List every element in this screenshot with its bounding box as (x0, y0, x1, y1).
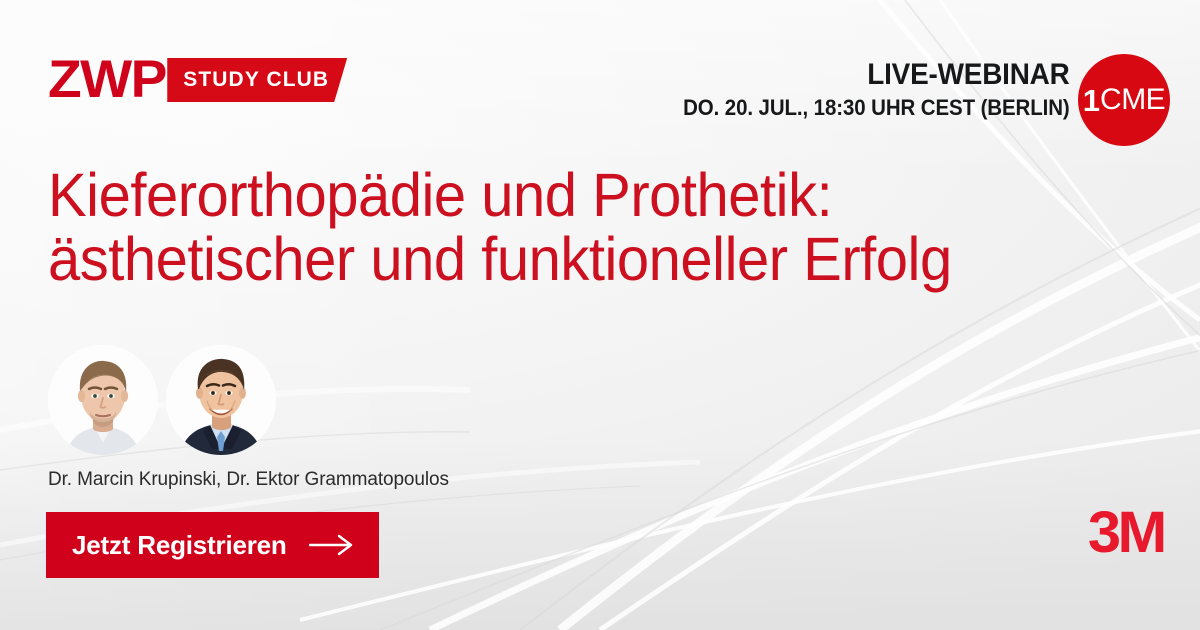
arrow-right-icon (309, 534, 355, 556)
webinar-type-label: LIVE-WEBINAR (683, 58, 1070, 92)
cme-credit-badge: 1 CME (1078, 54, 1170, 146)
study-club-tag: STUDY CLUB (167, 58, 347, 102)
speakers-section: Dr. Marcin Krupinski, Dr. Ektor Grammato… (48, 345, 449, 491)
avatar (48, 345, 158, 455)
register-button-label: Jetzt Registrieren (72, 530, 287, 561)
headline-line-1: Kieferorthopädie und Prothetik: (48, 163, 1084, 227)
webinar-datetime-label: DO. 20. JUL., 18:30 UHR CEST (BERLIN) (683, 94, 1070, 122)
cme-count: 1 (1083, 85, 1100, 116)
register-button[interactable]: Jetzt Registrieren (46, 512, 379, 578)
avatar (166, 345, 276, 455)
zwp-study-club-logo[interactable]: ZWP STUDY CLUB (48, 56, 347, 104)
speaker-portrait-1 (48, 345, 158, 455)
banner-header: ZWP STUDY CLUB LIVE-WEBINAR DO. 20. JUL.… (0, 0, 1200, 150)
webinar-promo-banner: ZWP STUDY CLUB LIVE-WEBINAR DO. 20. JUL.… (0, 0, 1200, 630)
cme-unit: CME (1100, 85, 1165, 115)
page-title: Kieferorthopädie und Prothetik: ästhetis… (48, 163, 1084, 291)
zwp-wordmark: ZWP (48, 56, 166, 104)
webinar-info-block: LIVE-WEBINAR DO. 20. JUL., 18:30 UHR CES… (654, 58, 1070, 122)
speaker-names: Dr. Marcin Krupinski, Dr. Ektor Grammato… (48, 469, 449, 491)
speaker-avatars (48, 345, 449, 455)
headline-line-2: ästhetischer und funktioneller Erfolg (48, 227, 1084, 291)
speaker-portrait-2 (166, 345, 276, 455)
sponsor-logo-3m: 3M (1088, 504, 1164, 562)
